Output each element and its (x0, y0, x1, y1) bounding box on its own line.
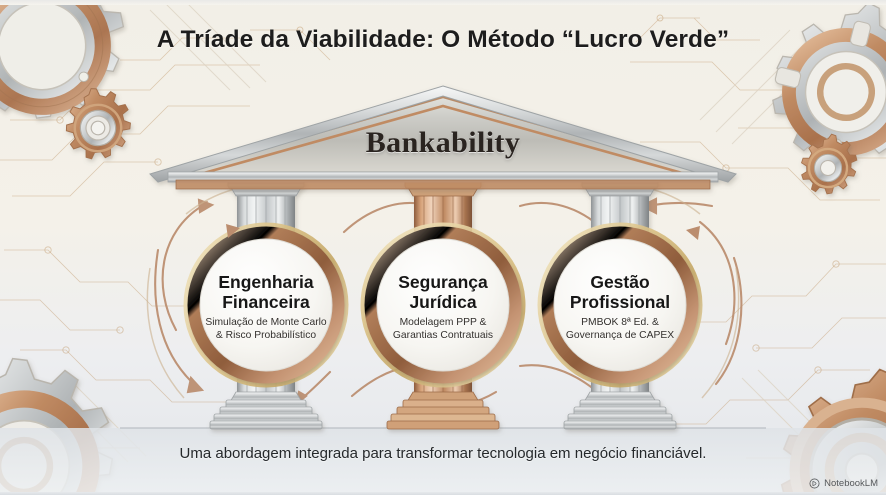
pillar-2-title-line1: Segurança (363, 272, 523, 292)
notebooklm-icon (809, 478, 820, 489)
pillar-3-title-line2: Profissional (540, 292, 700, 312)
pillar-1-sub-line2: & Risco Probabilístico (186, 330, 346, 343)
pillar-3-title-line1: Gestão (540, 272, 700, 292)
caption: Uma abordagem integrada para transformar… (0, 445, 886, 462)
notebooklm-watermark: NotebookLM (809, 478, 878, 489)
pillar-1-sub-line1: Simulação de Monte Carlo (186, 317, 346, 330)
pillar-1-text: Engenharia Financeira Simulação de Monte… (186, 272, 346, 342)
pillar-1-title-line1: Engenharia (186, 272, 346, 292)
pillar-2-text: Segurança Jurídica Modelagem PPP & Garan… (363, 272, 523, 342)
pillar-3-text: Gestão Profissional PMBOK 8ª Ed. & Gover… (540, 272, 700, 342)
notebooklm-label: NotebookLM (824, 478, 878, 489)
pillar-3-sub-line2: Governança de CAPEX (540, 330, 700, 343)
pediment-label: Bankability (0, 126, 886, 160)
pillar-2-sub-line1: Modelagem PPP & (363, 317, 523, 330)
pillar-3-sub-line1: PMBOK 8ª Ed. & (540, 317, 700, 330)
top-frame-strip (0, 0, 886, 5)
page-title: A Tríade da Viabilidade: O Método “Lucro… (0, 26, 886, 54)
pillar-2-title-line2: Jurídica (363, 292, 523, 312)
temple-diagram (0, 0, 886, 495)
pillar-1-title-line2: Financeira (186, 292, 346, 312)
infographic-canvas: A Tríade da Viabilidade: O Método “Lucro… (0, 0, 886, 495)
pillar-2-sub-line2: Garantias Contratuais (363, 330, 523, 343)
